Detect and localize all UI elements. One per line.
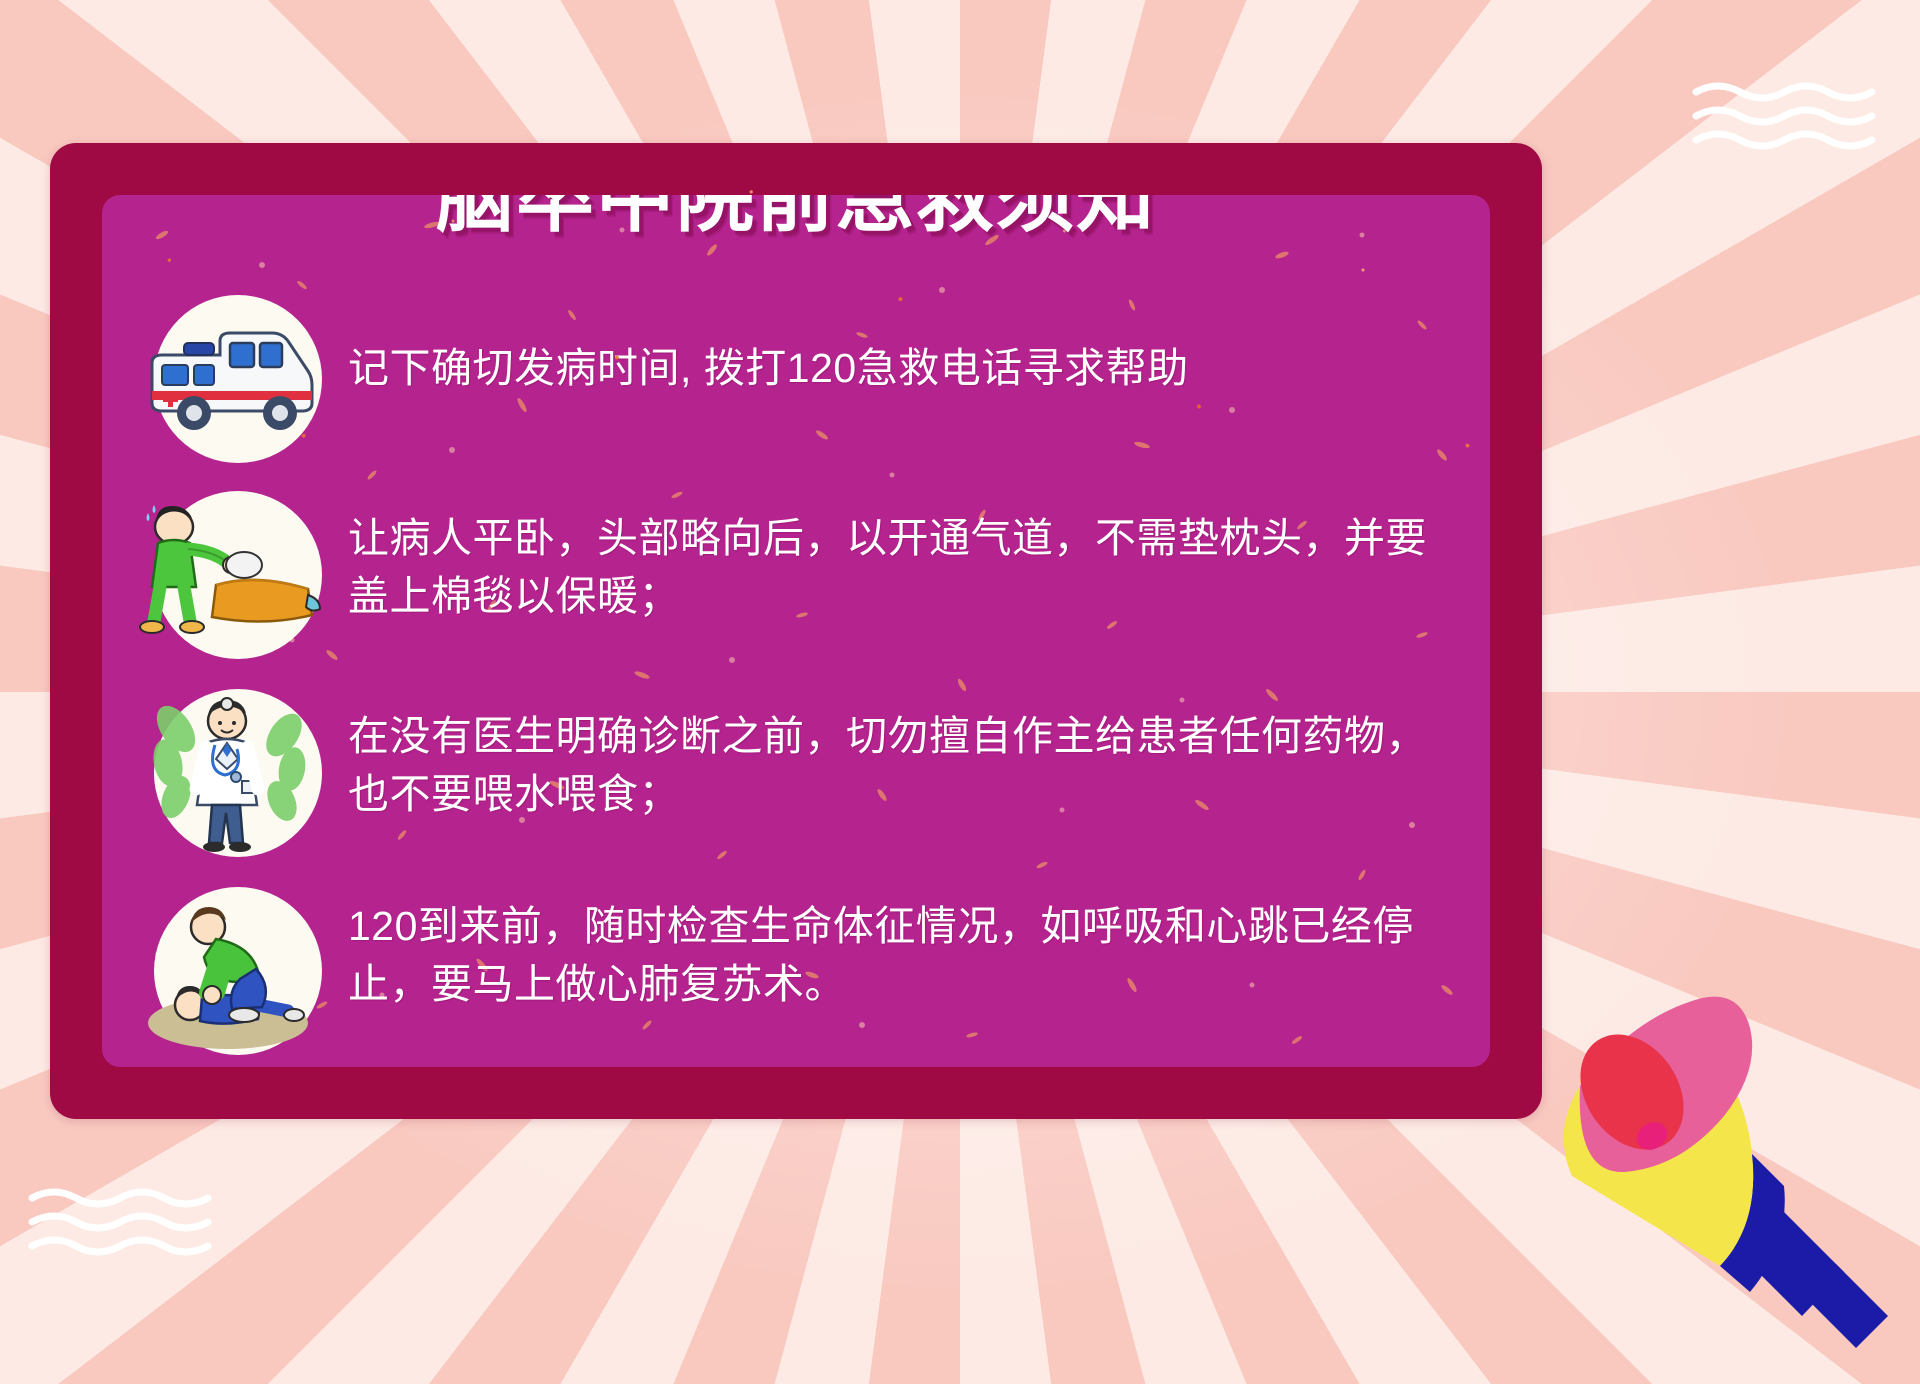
poster-title: 脑卒中院前急救须知 bbox=[102, 195, 1490, 241]
doctor-illustration bbox=[132, 685, 322, 870]
list-item-text: 让病人平卧，头部略向后，以开通气道，不需垫枕头，并要盖上棉毯以保暖； bbox=[348, 487, 1446, 625]
list-item: 120到来前，随时检查生命体征情况，如呼吸和心跳已经停止，要马上做心肺复苏术。 bbox=[132, 883, 1446, 1067]
list-item-text: 记下确切发病时间, 拨打120急救电话寻求帮助 bbox=[348, 291, 1446, 397]
doctor-icon bbox=[132, 685, 322, 870]
illustration-disc bbox=[154, 491, 322, 659]
list-item: 让病人平卧，头部略向后，以开通气道，不需垫枕头，并要盖上棉毯以保暖； bbox=[132, 487, 1446, 672]
list-item-text: 在没有医生明确诊断之前，切勿擅自作主给患者任何药物，也不要喂水喂食； bbox=[348, 685, 1446, 823]
illustration-disc bbox=[154, 689, 322, 857]
megaphone-icon bbox=[1484, 924, 1904, 1354]
illustration-disc bbox=[154, 887, 322, 1055]
patient-lying-down-illustration bbox=[132, 487, 322, 672]
list-item: 在没有医生明确诊断之前，切勿擅自作主给患者任何药物，也不要喂水喂食； bbox=[132, 685, 1446, 870]
confetti-speckles-decoration bbox=[102, 195, 1490, 1067]
list-item: 记下确切发病时间, 拨打120急救电话寻求帮助 bbox=[132, 291, 1446, 476]
poster-canvas: 脑卒中院前急救须知 bbox=[0, 0, 1920, 1384]
list-item-text: 120到来前，随时检查生命体征情况，如呼吸和心跳已经停止，要马上做心肺复苏术。 bbox=[348, 883, 1446, 1013]
ambulance-icon bbox=[132, 291, 322, 476]
poster-card-border: 脑卒中院前急救须知 bbox=[50, 143, 1542, 1119]
cpr-illustration bbox=[132, 883, 322, 1067]
illustration-disc bbox=[154, 295, 322, 463]
ambulance-illustration bbox=[132, 291, 322, 476]
advice-list: 记下确切发病时间, 拨打120急救电话寻求帮助 bbox=[102, 291, 1490, 1067]
cpr-icon bbox=[132, 883, 322, 1067]
patient-lying-down-icon bbox=[132, 487, 322, 672]
poster-card-body: 脑卒中院前急救须知 bbox=[102, 195, 1490, 1067]
